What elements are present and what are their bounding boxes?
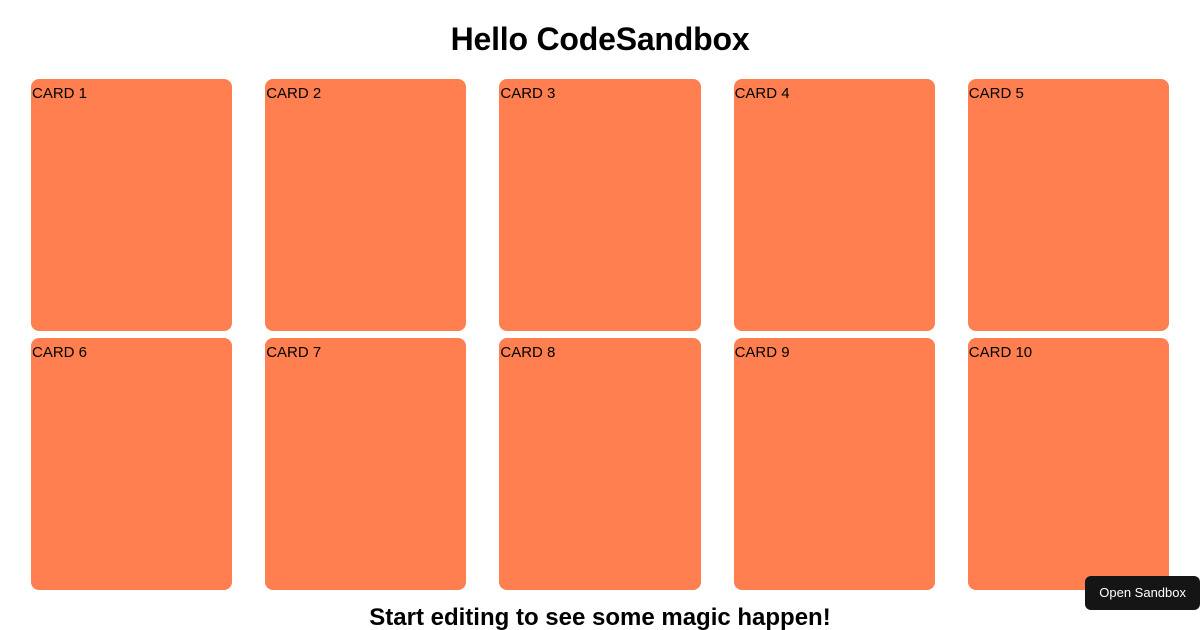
- page-title: Hello CodeSandbox: [31, 0, 1169, 58]
- card-7[interactable]: CARD 7: [265, 338, 466, 590]
- app-root: Hello CodeSandbox CARD 1 CARD 2 CARD 3 C…: [0, 0, 1200, 630]
- card-10[interactable]: CARD 10: [968, 338, 1169, 590]
- card-label: CARD 10: [968, 338, 1169, 362]
- card-8[interactable]: CARD 8: [499, 338, 700, 590]
- card-label: CARD 4: [734, 79, 935, 103]
- page-subtitle: Start editing to see some magic happen!: [31, 590, 1169, 630]
- card-3[interactable]: CARD 3: [499, 79, 700, 331]
- card-label: CARD 9: [734, 338, 935, 362]
- open-sandbox-button[interactable]: Open Sandbox: [1085, 576, 1200, 610]
- card-4[interactable]: CARD 4: [734, 79, 935, 331]
- card-label: CARD 6: [31, 338, 232, 362]
- card-label: CARD 2: [265, 79, 466, 103]
- card-label: CARD 7: [265, 338, 466, 362]
- card-label: CARD 3: [499, 79, 700, 103]
- card-1[interactable]: CARD 1: [31, 79, 232, 331]
- card-5[interactable]: CARD 5: [968, 79, 1169, 331]
- card-6[interactable]: CARD 6: [31, 338, 232, 590]
- card-9[interactable]: CARD 9: [734, 338, 935, 590]
- card-label: CARD 1: [31, 79, 232, 103]
- card-2[interactable]: CARD 2: [265, 79, 466, 331]
- card-label: CARD 8: [499, 338, 700, 362]
- card-label: CARD 5: [968, 79, 1169, 103]
- card-grid: CARD 1 CARD 2 CARD 3 CARD 4 CARD 5 CARD …: [31, 79, 1169, 590]
